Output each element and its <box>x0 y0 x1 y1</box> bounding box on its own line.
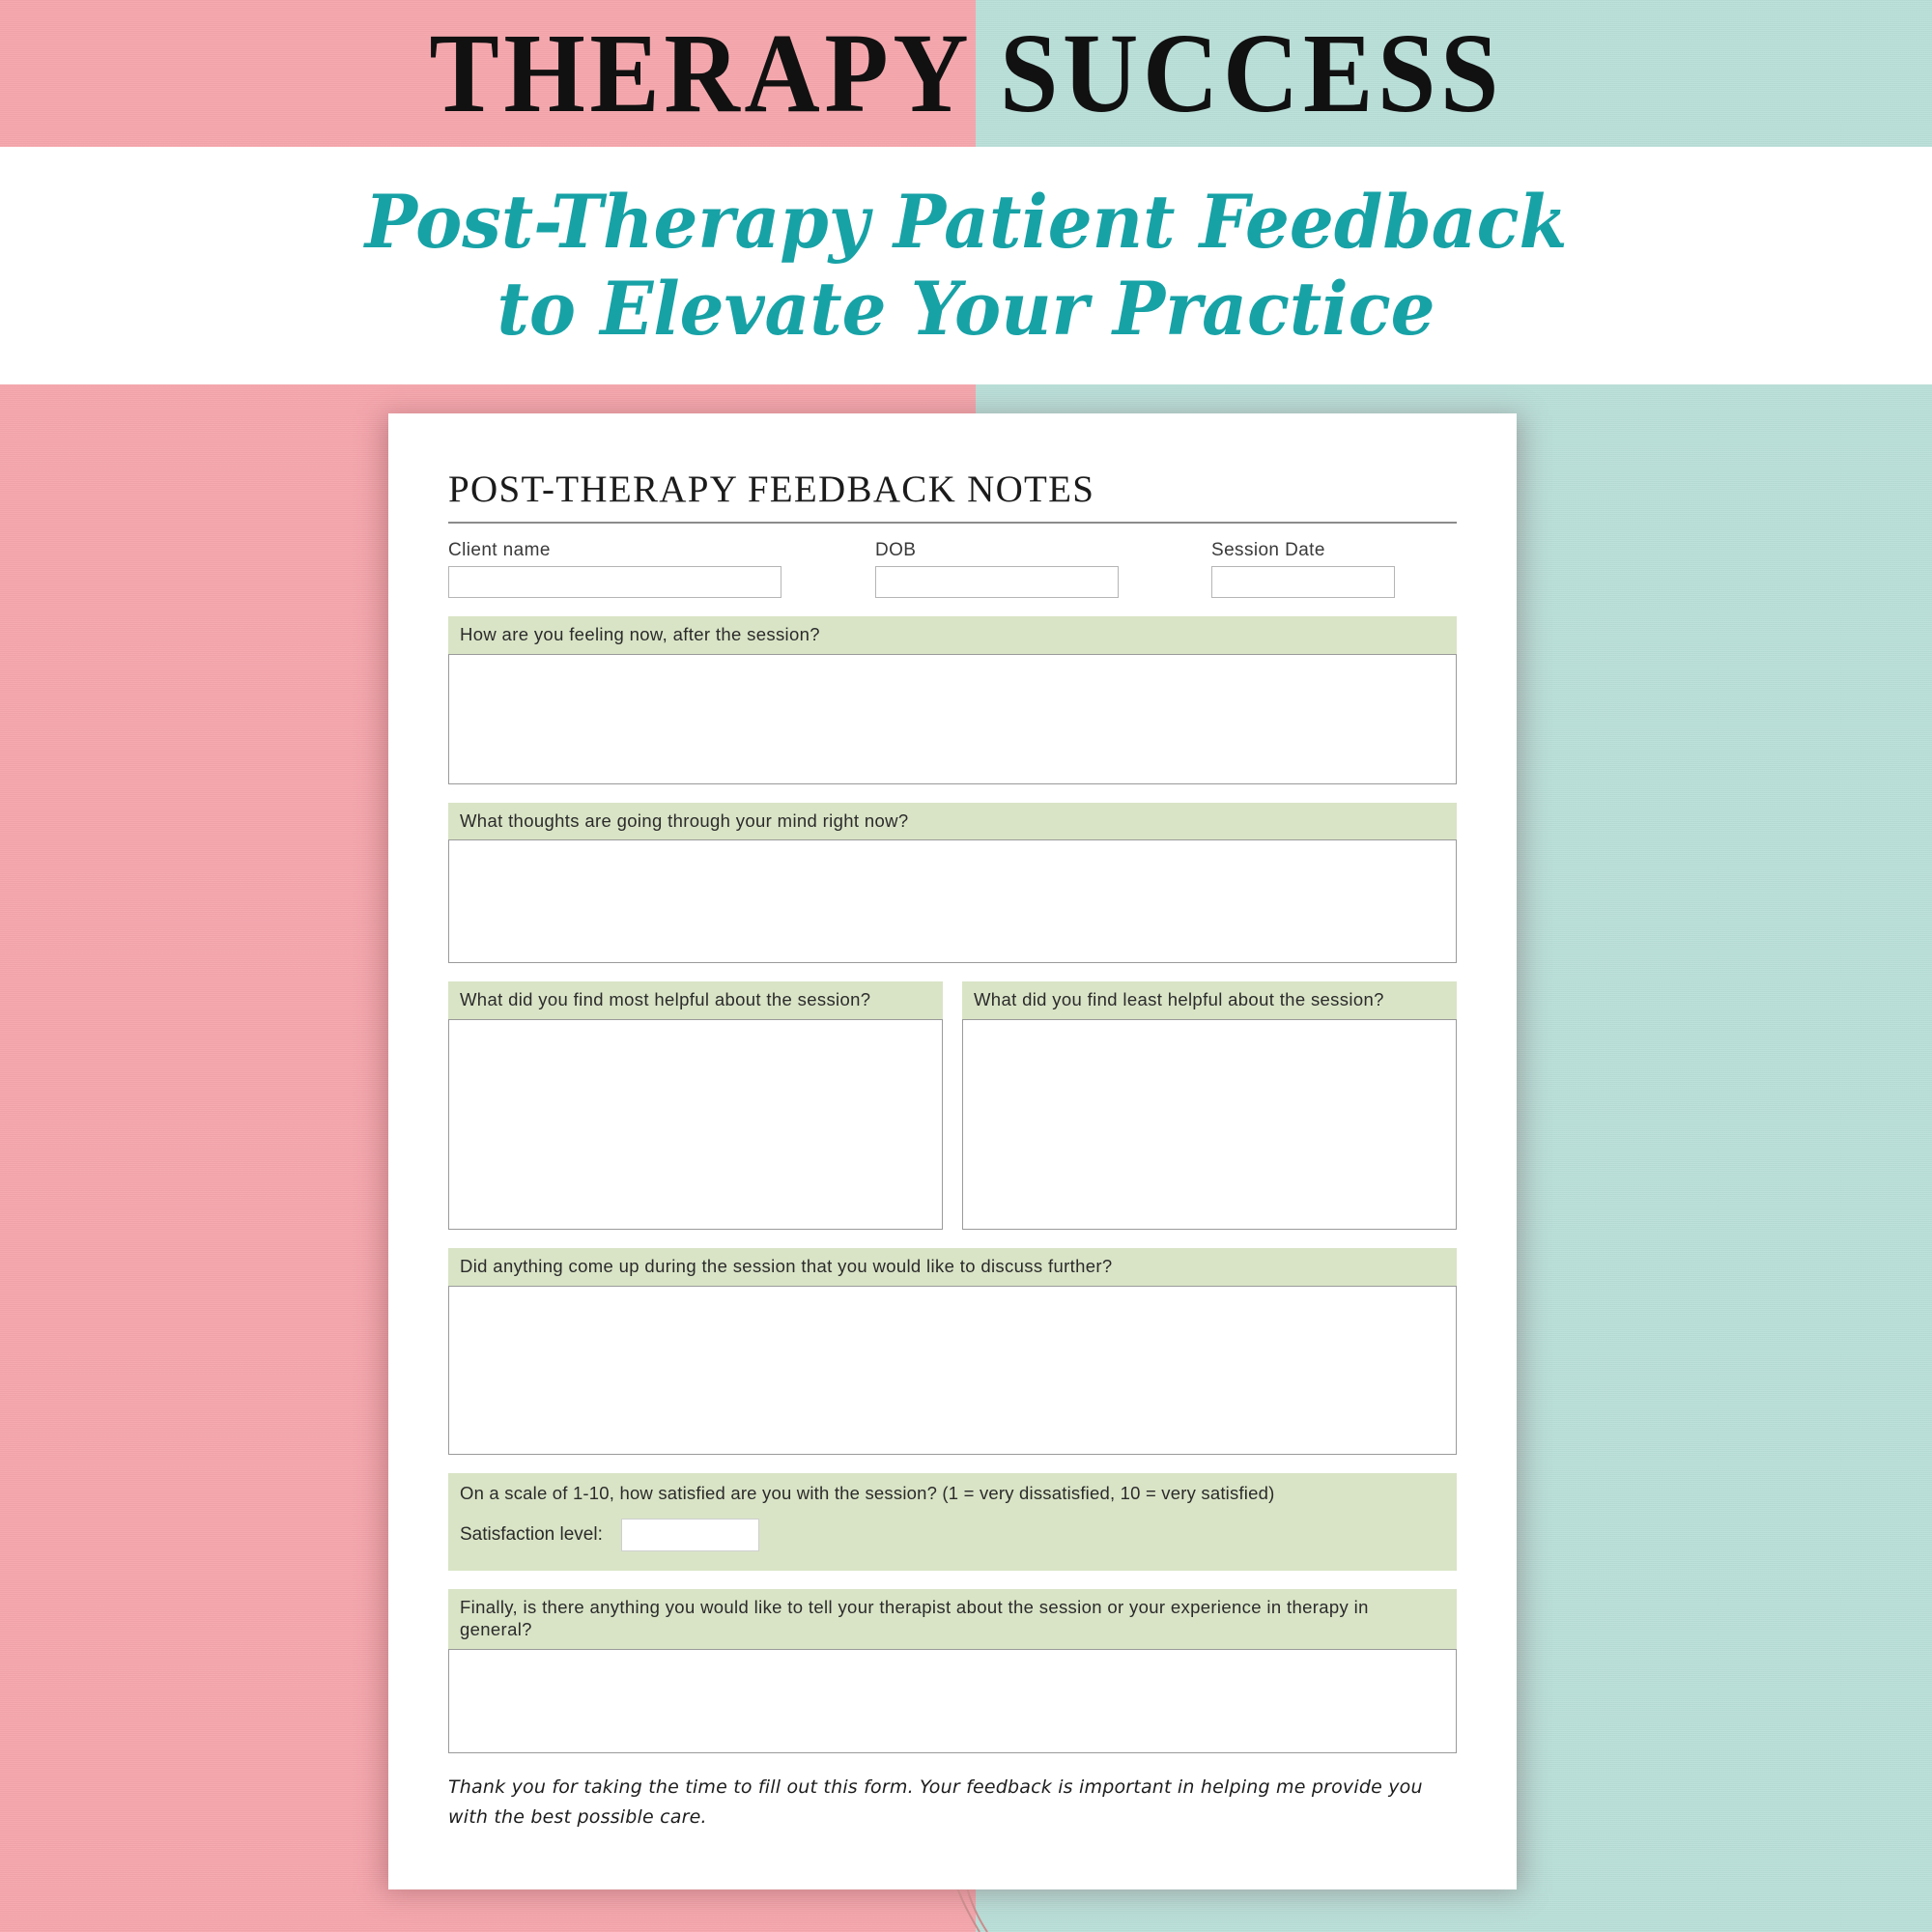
banner-subtitle-line-1: Post-Therapy Patient Feedback <box>365 179 1568 266</box>
session-date-input[interactable] <box>1211 566 1395 598</box>
question-block-least-helpful: What did you find least helpful about th… <box>962 981 1457 1230</box>
question-block-feeling-now: How are you feeling now, after the sessi… <box>448 616 1457 784</box>
satisfaction-panel: On a scale of 1-10, how satisfied are yo… <box>448 1473 1457 1571</box>
dob-field-group: DOB <box>875 540 1119 598</box>
question-block-most-helpful: What did you find most helpful about the… <box>448 981 943 1230</box>
banner-subtitle-line-2: to Elevate Your Practice <box>497 266 1435 353</box>
session-date-label: Session Date <box>1211 540 1395 561</box>
question-label-feeling-now: How are you feeling now, after the sessi… <box>448 616 1457 654</box>
question-row-helpful-pair: What did you find most helpful about the… <box>448 981 1457 1230</box>
answer-box-thoughts[interactable] <box>448 839 1457 963</box>
dob-input[interactable] <box>875 566 1119 598</box>
identity-field-row: Client name DOB Session Date <box>448 540 1457 598</box>
question-label-final-comments: Finally, is there anything you would lik… <box>448 1589 1457 1649</box>
banner-subtitle-band: Post-Therapy Patient Feedback to Elevate… <box>0 147 1932 384</box>
answer-box-most-helpful[interactable] <box>448 1019 943 1230</box>
question-label-discuss-further: Did anything come up during the session … <box>448 1248 1457 1286</box>
question-block-thoughts: What thoughts are going through your min… <box>448 803 1457 964</box>
satisfaction-question-label: On a scale of 1-10, how satisfied are yo… <box>460 1482 1445 1505</box>
question-label-thoughts: What thoughts are going through your min… <box>448 803 1457 840</box>
answer-box-feeling-now[interactable] <box>448 654 1457 784</box>
answer-box-discuss-further[interactable] <box>448 1286 1457 1455</box>
answer-box-final-comments[interactable] <box>448 1649 1457 1753</box>
closing-thank-you-note: Thank you for taking the time to fill ou… <box>448 1773 1457 1833</box>
session-date-field-group: Session Date <box>1211 540 1395 598</box>
satisfaction-level-label: Satisfaction level: <box>460 1524 603 1546</box>
satisfaction-level-input[interactable] <box>621 1519 759 1551</box>
client-name-label: Client name <box>448 540 781 561</box>
banner-title: THERAPY SUCCESS <box>429 16 1503 130</box>
question-block-discuss-further: Did anything come up during the session … <box>448 1248 1457 1455</box>
satisfaction-input-row: Satisfaction level: <box>460 1519 1445 1551</box>
question-label-most-helpful: What did you find most helpful about the… <box>448 981 943 1019</box>
answer-box-least-helpful[interactable] <box>962 1019 1457 1230</box>
question-block-final-comments: Finally, is there anything you would lik… <box>448 1589 1457 1753</box>
question-label-least-helpful: What did you find least helpful about th… <box>962 981 1457 1019</box>
form-paper-sheet: POST-THERAPY FEEDBACK NOTES Client name … <box>388 413 1517 1889</box>
client-name-field-group: Client name <box>448 540 781 598</box>
form-title: POST-THERAPY FEEDBACK NOTES <box>448 468 1457 524</box>
banner-title-band: THERAPY SUCCESS <box>0 0 1932 147</box>
client-name-input[interactable] <box>448 566 781 598</box>
dob-label: DOB <box>875 540 1119 561</box>
